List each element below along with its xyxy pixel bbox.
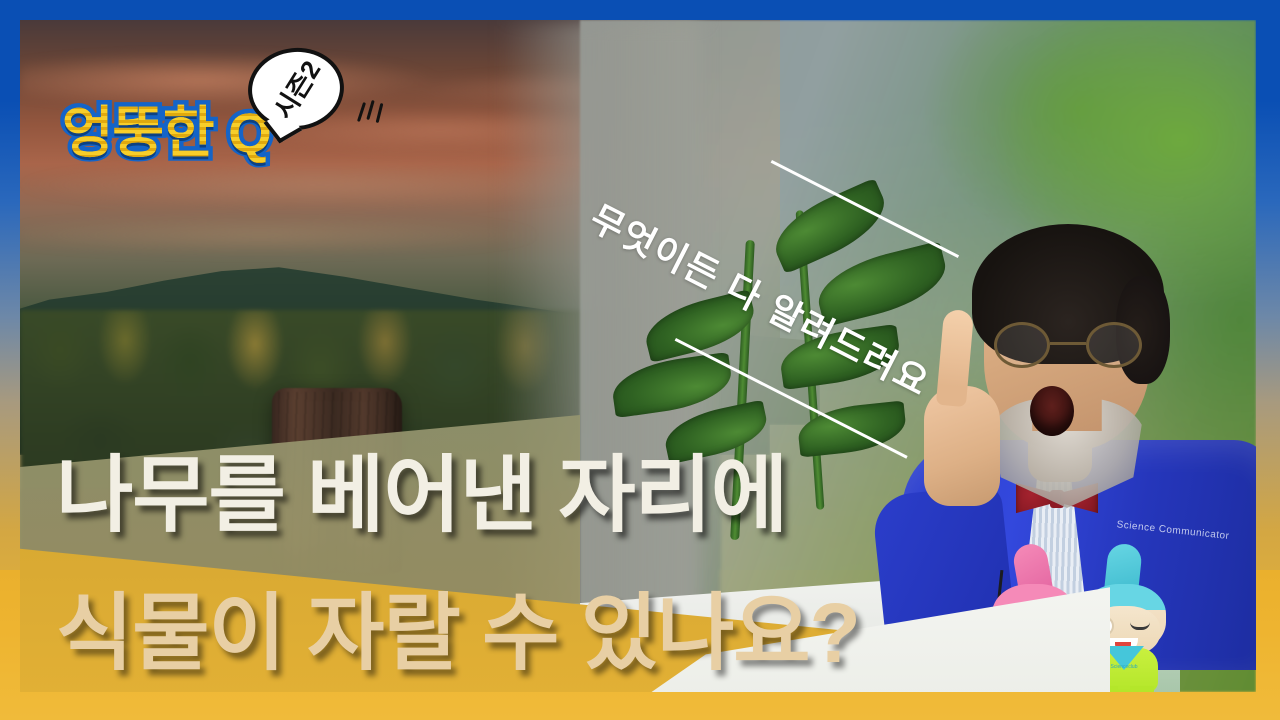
show-logo-fill: 엉뚱한 Q <box>62 88 271 169</box>
season-badge-label: 시즌2 <box>264 53 328 125</box>
host-open-mouth <box>1030 386 1074 436</box>
title-line-2: 식물이 자랄 수 있나요? <box>56 566 860 687</box>
thumbnail-canvas: Science Communicator Scienceclub Science… <box>0 0 1280 720</box>
host-glasses <box>990 322 1146 368</box>
show-logo: 엉뚱한 Q 엉뚱한 Q 시즌2 <box>62 66 362 162</box>
title-line-1: 나무를 베어낸 자리에 <box>56 428 787 549</box>
bubble-motion-lines <box>358 100 388 140</box>
photo-composite: Science Communicator Scienceclub Science… <box>20 20 1256 692</box>
